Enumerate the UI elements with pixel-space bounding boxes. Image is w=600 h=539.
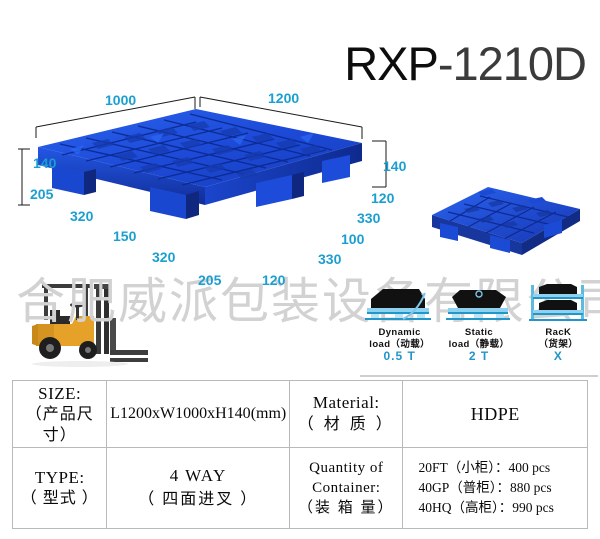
cell-size-label: SIZE: （产品尺寸） xyxy=(13,381,107,448)
rack-load-label-en: RacK xyxy=(545,327,571,338)
dynamic-load-label-en: Dynamic xyxy=(378,327,420,338)
dim-bottom-left: 150 xyxy=(113,228,136,244)
rack-load-label-cn: （货架） xyxy=(539,339,579,350)
cell-material-value: HDPE xyxy=(403,381,588,448)
rack-load-icon xyxy=(521,283,595,325)
dim-right-330-a: 330 xyxy=(357,210,380,226)
cell-size-value: L1200xW1000xH140(mm) xyxy=(107,381,290,448)
dim-top-left: 1000 xyxy=(105,92,136,108)
spec-table: SIZE: （产品尺寸） L1200xW1000xH140(mm) Materi… xyxy=(12,380,588,529)
dim-bottom-center: 320 xyxy=(152,249,175,265)
dim-left-mid: 320 xyxy=(70,208,93,224)
pallet-side-view xyxy=(418,165,594,270)
load-rack: RacK （货架） X xyxy=(519,283,598,375)
table-row: TYPE: （ 型式 ） 4 WAY （ 四面进叉 ） Quantity of … xyxy=(13,448,588,529)
cell-quantity-value: 20FT（小柜）：400 pcs 40GP（普柜）：880 pcs 40HQ（高… xyxy=(403,448,588,529)
pallet-diagram xyxy=(0,75,420,290)
cell-material-label: Material: （ 材 质 ） xyxy=(290,381,403,448)
model-suffix: -1210D xyxy=(438,37,586,90)
table-row: SIZE: （产品尺寸） L1200xW1000xH140(mm) Materi… xyxy=(13,381,588,448)
cell-quantity-label: Quantity of Container: （装 箱 量） xyxy=(290,448,403,529)
static-load-label: Static load（静载） xyxy=(449,327,510,350)
material-label-en: Material: xyxy=(291,392,401,414)
type-value-en: 4 WAY xyxy=(108,464,288,488)
quantity-label-en-2: Container: xyxy=(291,478,401,498)
quantity-row: 20FT（小柜）：400 pcs xyxy=(404,458,586,478)
material-value: HDPE xyxy=(471,404,520,424)
load-static: Static load（静载） 2 T xyxy=(439,283,518,375)
size-value: L1200xW1000xH140 xyxy=(110,405,250,422)
quantity-label-cn: （装 箱 量） xyxy=(291,498,401,518)
dim-left-height: 140 xyxy=(33,155,56,171)
quantity-row: 40HQ（高柜）：990 pcs xyxy=(404,498,586,518)
dim-right-100: 100 xyxy=(341,231,364,247)
static-load-label-cn: load（静载） xyxy=(449,339,510,350)
type-value-cn: （ 四面进叉 ） xyxy=(108,488,288,512)
load-capacity-group: Dynamic load（动载） 0.5 T Static load（静载） 2… xyxy=(360,283,598,375)
size-label-cn: （产品尺寸） xyxy=(14,404,105,446)
loads-divider xyxy=(360,375,598,377)
size-unit: (mm) xyxy=(251,405,287,422)
dim-right-330-b: 330 xyxy=(318,251,341,267)
page-title: RXP-1210D xyxy=(344,36,586,91)
dynamic-load-value: 0.5 T xyxy=(383,350,415,363)
dynamic-load-label: Dynamic load（动载） xyxy=(369,327,430,350)
dim-top-right: 1200 xyxy=(268,90,299,106)
dim-right-120: 120 xyxy=(371,190,394,206)
dynamic-load-label-cn: load（动载） xyxy=(369,339,430,350)
dim-bottom-right-b: 120 xyxy=(262,272,285,288)
load-dynamic: Dynamic load（动载） 0.5 T xyxy=(360,283,439,375)
static-load-label-en: Static xyxy=(465,327,493,338)
dim-left-foot: 205 xyxy=(30,186,53,202)
type-label-cn: （ 型式 ） xyxy=(14,488,105,509)
cell-type-value: 4 WAY （ 四面进叉 ） xyxy=(107,448,290,529)
quantity-row: 40GP（普柜）：880 pcs xyxy=(404,478,586,498)
quantity-label-en-1: Quantity of xyxy=(291,458,401,478)
dynamic-load-icon xyxy=(363,283,437,325)
forklift-photo xyxy=(14,272,154,374)
static-load-icon xyxy=(442,283,516,325)
type-label-en: TYPE: xyxy=(14,467,105,488)
rack-load-value: X xyxy=(554,350,563,363)
model-prefix: RXP xyxy=(344,37,438,90)
dim-right-height: 140 xyxy=(383,158,406,174)
dim-bottom-right-a: 205 xyxy=(198,272,221,288)
material-label-cn: （ 材 质 ） xyxy=(291,414,401,436)
static-load-value: 2 T xyxy=(469,350,489,363)
cell-type-label: TYPE: （ 型式 ） xyxy=(13,448,107,529)
size-label-en: SIZE: xyxy=(14,383,105,404)
rack-load-label: RacK （货架） xyxy=(539,327,579,350)
